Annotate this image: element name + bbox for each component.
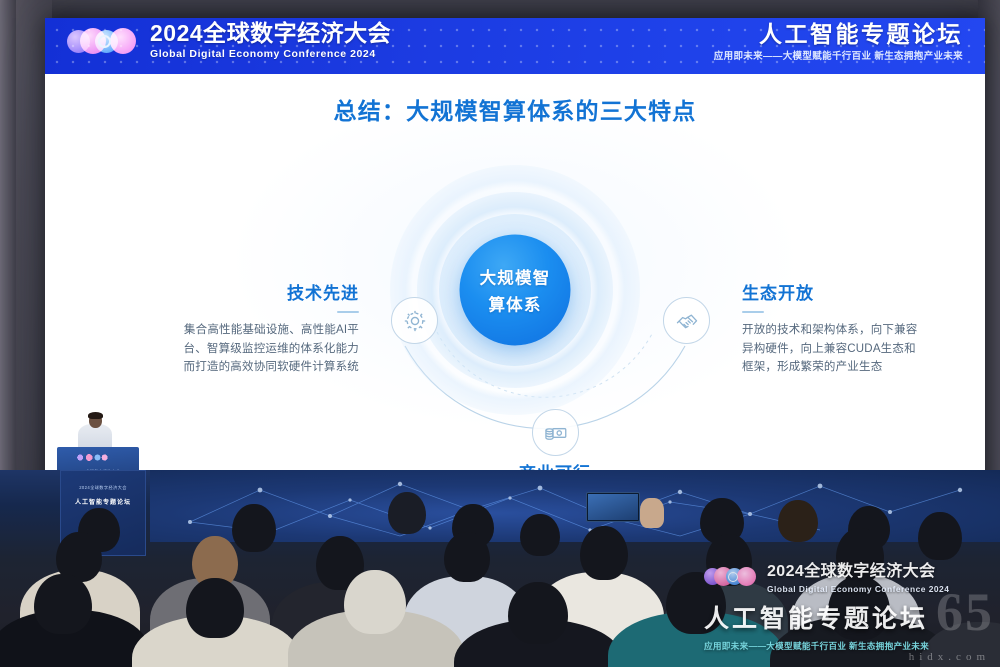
side-panel-line-1: 2024全球数字经济大会 (61, 485, 145, 491)
audience-head (778, 500, 818, 542)
audience-head (508, 582, 568, 644)
banner-title-cn: 2024全球数字经济大会 (150, 22, 391, 45)
audience-head (444, 532, 490, 582)
screenshot-stage: 2024全球数字经济大会 Global Digital Economy Conf… (0, 0, 1000, 667)
feature-ecosystem-desc: 开放的技术和架构体系，向下兼容异构硬件，向上兼容CUDA生态和框架，形成繁荣的产… (742, 321, 918, 377)
banner-forum-subtitle: 应用即未来——大模型赋能千行百业 新生态拥抱产业未来 (714, 52, 963, 62)
side-panel-line-2: 人工智能专题论坛 (61, 497, 145, 506)
audience-head (388, 492, 426, 534)
audience-head (34, 574, 92, 634)
node-commercial (532, 409, 579, 456)
audience-head (344, 570, 406, 634)
audience-phone (586, 492, 640, 522)
gear-icon (402, 308, 428, 334)
audience-head (186, 578, 244, 638)
presentation-screen: 2024全球数字经济大会 Global Digital Economy Conf… (45, 18, 985, 516)
audience-head (232, 504, 276, 552)
gdec-logo-icon (67, 24, 141, 58)
feature-tech-rule (337, 311, 359, 313)
podium-logo-icon (73, 453, 109, 462)
audience-head (828, 576, 890, 640)
audience-area: 2024全球数字经济大会 人工智能专题论坛 (0, 470, 1000, 667)
audience-hand (640, 498, 664, 528)
feature-ecosystem-title: 生态开放 (742, 279, 918, 304)
handshake-icon (674, 308, 700, 334)
feature-ecosystem-rule (742, 311, 764, 313)
core-line-2: 算体系 (488, 292, 541, 316)
audience-head (918, 512, 962, 560)
node-ecosystem (663, 297, 710, 344)
audience-head (836, 528, 884, 582)
banner-forum-title: 人工智能专题论坛 (714, 23, 963, 46)
feature-tech-title: 技术先进 (183, 279, 359, 304)
feature-tech: 技术先进 集合高性能基础设施、高性能AI平台、智算级监控运维的体系化能力而打造的… (183, 279, 359, 377)
three-features-diagram: 大规模智 算体系 (45, 74, 985, 516)
audience-head (580, 526, 628, 580)
speaker-hair (88, 412, 103, 419)
money-icon (543, 420, 569, 446)
conference-banner: 2024全球数字经济大会 Global Digital Economy Conf… (45, 18, 985, 74)
core-line-1: 大规模智 (480, 265, 551, 289)
banner-forum-group: 人工智能专题论坛 应用即未来——大模型赋能千行百业 新生态拥抱产业未来 (714, 23, 963, 62)
audience-head (666, 572, 726, 634)
banner-title-en: Global Digital Economy Conference 2024 (150, 49, 391, 60)
banner-brand: 2024全球数字经济大会 Global Digital Economy Conf… (67, 22, 391, 60)
feature-tech-desc: 集合高性能基础设施、高性能AI平台、智算级监控运维的体系化能力而打造的高效协同软… (183, 321, 359, 377)
wall-left-edge (0, 0, 16, 500)
feature-ecosystem: 生态开放 开放的技术和架构体系，向下兼容异构硬件，向上兼容CUDA生态和框架，形… (742, 279, 918, 377)
node-tech (391, 297, 438, 344)
banner-title-group: 2024全球数字经济大会 Global Digital Economy Conf… (150, 22, 391, 60)
audience-shoulders (920, 622, 1000, 667)
core-circle: 大规模智 算体系 (460, 235, 571, 346)
slide-body: 总结：大规模智算体系的三大特点 大规模智 算体系 (45, 74, 985, 516)
wall-top-strip (0, 0, 1000, 18)
audience-head (520, 514, 560, 556)
